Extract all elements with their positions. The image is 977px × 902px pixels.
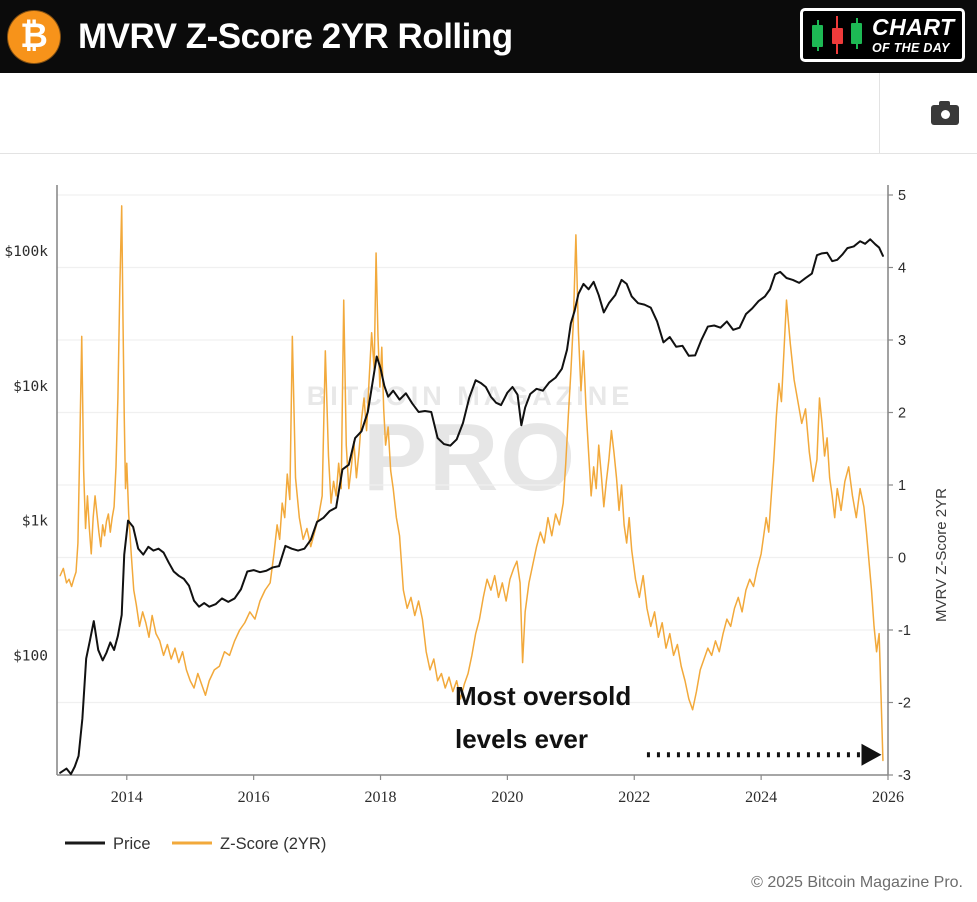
x-tick-label: 2022 bbox=[618, 789, 650, 806]
svg-text:PRO: PRO bbox=[363, 404, 577, 511]
chart-container: BITCOIN MAGAZINE PRO $100k$10k$1k$100 54… bbox=[0, 155, 977, 855]
bitcoin-symbol: ₿ bbox=[20, 19, 48, 53]
annotation-most-oversold: Most oversold levels ever bbox=[455, 681, 881, 766]
badge-line-2: OF THE DAY bbox=[872, 42, 955, 55]
dotted-arrow-right-icon bbox=[647, 744, 882, 766]
legend-label-zscore: Z-Score (2YR) bbox=[220, 835, 326, 853]
right-tick-label: 0 bbox=[898, 551, 906, 567]
chart-of-the-day-badge: CHART OF THE DAY bbox=[800, 8, 965, 62]
right-tick-label: 5 bbox=[898, 188, 906, 204]
x-tick-label: 2014 bbox=[111, 789, 143, 806]
left-tick-label: $1k bbox=[22, 514, 48, 530]
x-axis-ticks: 2014201620182020202220242026 bbox=[111, 775, 904, 806]
chart-legend: Price Z-Score (2YR) bbox=[65, 835, 326, 853]
left-tick-label: $100 bbox=[13, 649, 48, 665]
left-tick-label: $100k bbox=[4, 244, 48, 260]
x-tick-label: 2016 bbox=[238, 789, 270, 806]
chart-toolbar bbox=[0, 73, 977, 154]
svg-text:Most oversold: Most oversold bbox=[455, 681, 631, 711]
page-header: ₿ MVRV Z-Score 2YR Rolling CHART OF THE … bbox=[0, 0, 977, 73]
bitcoin-logo-icon: ₿ bbox=[8, 11, 60, 63]
page-title: MVRV Z-Score 2YR Rolling bbox=[78, 17, 513, 57]
candle-green-left bbox=[812, 16, 823, 54]
badge-line-1: CHART bbox=[872, 16, 955, 39]
x-tick-label: 2020 bbox=[491, 789, 523, 806]
right-tick-label: -1 bbox=[898, 623, 911, 639]
right-tick-label: -3 bbox=[898, 768, 911, 784]
toolbar-divider bbox=[879, 73, 880, 153]
candle-green-right bbox=[851, 16, 862, 54]
x-tick-label: 2018 bbox=[365, 789, 397, 806]
svg-text:levels ever: levels ever bbox=[455, 724, 588, 754]
right-axis-ticks: 543210-1-2-3 bbox=[888, 188, 911, 784]
right-tick-label: 2 bbox=[898, 406, 906, 422]
right-tick-label: -2 bbox=[898, 696, 911, 712]
legend-label-price: Price bbox=[113, 835, 151, 853]
x-tick-label: 2026 bbox=[872, 789, 904, 806]
badge-text: CHART OF THE DAY bbox=[872, 16, 955, 55]
camera-icon[interactable] bbox=[931, 101, 959, 125]
right-tick-label: 1 bbox=[898, 478, 906, 494]
copyright-footer: © 2025 Bitcoin Magazine Pro. bbox=[751, 874, 963, 892]
x-tick-label: 2024 bbox=[745, 789, 777, 806]
watermark: BITCOIN MAGAZINE PRO bbox=[307, 381, 634, 511]
right-axis-label: MVRV Z-Score 2YR bbox=[933, 488, 950, 622]
candle-red-middle bbox=[832, 16, 843, 54]
candlestick-icon bbox=[809, 15, 865, 55]
mvrv-zscore-chart: BITCOIN MAGAZINE PRO $100k$10k$1k$100 54… bbox=[0, 155, 977, 855]
left-axis-ticks: $100k$10k$1k$100 bbox=[4, 244, 48, 665]
left-tick-label: $10k bbox=[13, 379, 48, 395]
right-tick-label: 3 bbox=[898, 333, 906, 349]
right-tick-label: 4 bbox=[898, 261, 906, 277]
